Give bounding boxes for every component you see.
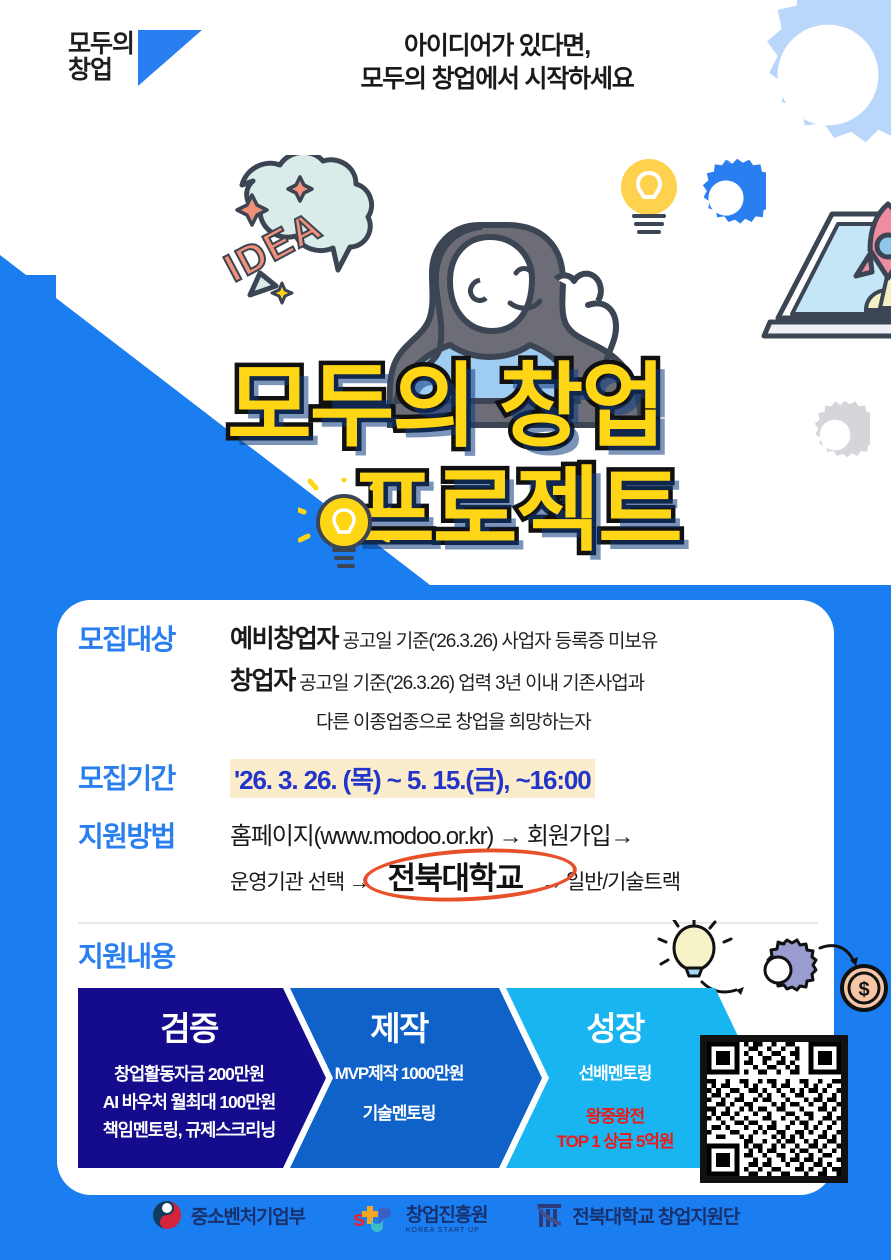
target-type-2: 창업자 xyxy=(230,667,295,695)
highlighted-institution: 전북대학교 xyxy=(373,857,536,905)
tagline-line-1: 아이디어가 있다면, xyxy=(292,30,702,63)
hero-illustration: IDEA xyxy=(0,130,891,460)
logo-line-2: 창업 xyxy=(68,57,134,83)
tagline-line-2: 모두의 창업에서 시작하세요 xyxy=(292,63,702,96)
panel-1-item-2: AI 바우처 월최대 100만원 xyxy=(78,1088,326,1116)
target-desc-3: 다른 이종업종으로 창업을 희망하는자 xyxy=(316,712,591,733)
svg-text:$: $ xyxy=(858,979,869,1001)
footer-org-3: 전북대학교 창업지원단 xyxy=(535,1200,739,1230)
info-row-apply: 지원방법 홈페이지(www.modoo.or.kr) → 회원가입→ 운영기관 … xyxy=(78,817,818,905)
footer-org-1: 중소벤처기업부 xyxy=(152,1200,305,1230)
footer-logos: 중소벤처기업부 s 창업진흥원 KOREA START UP 전북대학교 창업지… xyxy=(0,1200,891,1260)
footer-org-1-name: 중소벤처기업부 xyxy=(191,1202,305,1229)
jbnu-icon xyxy=(535,1200,563,1230)
svg-text:s: s xyxy=(353,1206,365,1231)
panel-2-title: 제작 xyxy=(290,1002,542,1050)
support-panel-production: 제작 MVP제작 1000만원 기술멘토링 xyxy=(290,988,542,1168)
apply-step-2: 운영기관 선택 → 전북대학교 → 일반/기술트랙 xyxy=(230,857,818,905)
info-block: 모집대상 예비창업자 공고일 기준('26.3.26) 사업자 등록증 미보유 … xyxy=(78,620,818,911)
brand-logo: 모두의 창업 xyxy=(68,28,202,86)
panel-1-item-1: 창업활동자금 200만원 xyxy=(78,1060,326,1088)
info-row-period: 모집기간 '26. 3. 26. (목) ~ 5. 15.(금), ~16:00 xyxy=(78,759,818,799)
tagline: 아이디어가 있다면, 모두의 창업에서 시작하세요 xyxy=(292,30,702,96)
footer-org-2: s 창업진흥원 KOREA START UP xyxy=(353,1200,487,1234)
target-desc-2: 공고일 기준('26.3.26) 업력 3년 이내 기존사업과 xyxy=(299,673,644,694)
lightbulb-icon xyxy=(298,478,390,584)
kised-icon: s xyxy=(353,1202,397,1232)
panel-1-item-3: 책임멘토링, 규제스크리닝 xyxy=(78,1116,326,1144)
target-line-2: 창업자 공고일 기준('26.3.26) 업력 3년 이내 기존사업과 xyxy=(230,662,818,704)
woman-character-icon xyxy=(330,185,650,475)
qr-code[interactable] xyxy=(700,1035,848,1183)
target-line-3: 다른 이종업종으로 창업을 희망하는자 xyxy=(230,704,818,743)
footer-org-2-sub: KOREA START UP xyxy=(406,1227,487,1234)
qr-code-image xyxy=(707,1042,841,1176)
apply-step-2-pre: 운영기관 선택 → xyxy=(230,871,369,894)
info-row-target: 모집대상 예비창업자 공고일 기준('26.3.26) 사업자 등록증 미보유 … xyxy=(78,620,818,743)
taegeuk-icon xyxy=(152,1200,182,1230)
label-target: 모집대상 xyxy=(78,620,230,660)
panel-2-item-1: MVP제작 1000만원 xyxy=(290,1060,542,1088)
support-section-title: 지원내용 xyxy=(78,935,175,975)
laptop-rocket-icon xyxy=(740,190,891,370)
lightbulb-icon xyxy=(612,154,686,244)
target-type-1: 예비창업자 xyxy=(230,625,338,653)
gear-icon xyxy=(800,400,870,470)
footer-org-3-name: 전북대학교 창업지원단 xyxy=(572,1202,739,1229)
label-apply: 지원방법 xyxy=(78,817,230,857)
footer-org-2-name: 창업진흥원 xyxy=(406,1200,487,1227)
panel-1-title: 검증 xyxy=(78,1002,326,1050)
support-panel-verification: 검증 창업활동자금 200만원 AI 바우처 월최대 100만원 책임멘토링, … xyxy=(78,988,326,1168)
logo-line-1: 모두의 xyxy=(68,31,134,57)
panel-2-item-2: 기술멘토링 xyxy=(290,1100,542,1128)
logo-triangle-icon xyxy=(138,30,202,86)
label-period: 모집기간 xyxy=(78,759,230,799)
target-line-1: 예비창업자 공고일 기준('26.3.26) 사업자 등록증 미보유 xyxy=(230,620,818,662)
period-value: '26. 3. 26. (목) ~ 5. 15.(금), ~16:00 xyxy=(230,759,595,798)
support-panels: 검증 창업활동자금 200만원 AI 바우처 월최대 100만원 책임멘토링, … xyxy=(78,988,738,1168)
target-desc-1: 공고일 기준('26.3.26) 사업자 등록증 미보유 xyxy=(342,631,657,652)
